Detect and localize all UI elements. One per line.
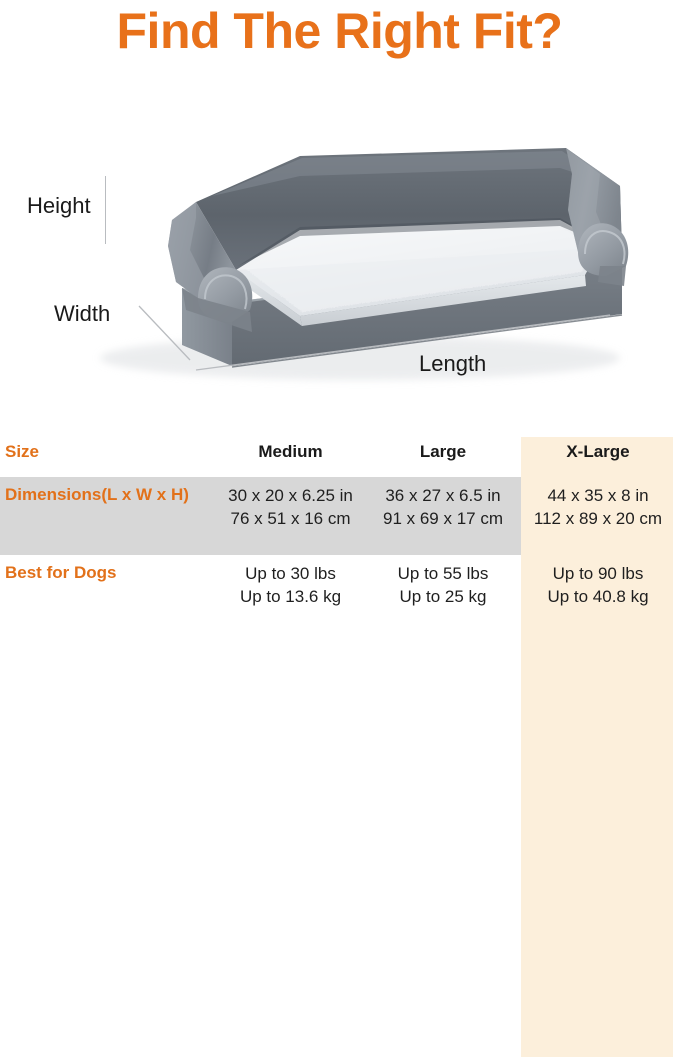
weight-lbs: Up to 30 lbs [198, 562, 383, 585]
xlarge-column-highlight [521, 437, 673, 1057]
cell-dimensions-medium: 30 x 20 x 6.25 in 76 x 51 x 16 cm [198, 484, 383, 530]
dimensions-cm: 91 x 69 x 17 cm [362, 507, 524, 530]
row-label-dimensions: Dimensions(L x W x H) [5, 484, 189, 506]
length-label: Length [419, 351, 486, 377]
weight-lbs: Up to 90 lbs [518, 562, 678, 585]
cell-weight-medium: Up to 30 lbs Up to 13.6 kg [198, 562, 383, 608]
width-label: Width [54, 301, 110, 327]
cell-weight-large: Up to 55 lbs Up to 25 kg [362, 562, 524, 608]
dimensions-cm: 76 x 51 x 16 cm [198, 507, 383, 530]
column-header-large: Large [362, 441, 524, 463]
row-label-size: Size [5, 441, 39, 463]
column-header-medium: Medium [198, 441, 383, 463]
row-label-best-for-dogs: Best for Dogs [5, 562, 116, 584]
cell-dimensions-large: 36 x 27 x 6.5 in 91 x 69 x 17 cm [362, 484, 524, 530]
column-header-xlarge: X-Large [518, 441, 678, 463]
product-illustration [0, 70, 679, 430]
page-title: Find The Right Fit? [0, 2, 679, 64]
size-chart-table: Size Dimensions(L x W x H) Best for Dogs… [0, 430, 679, 637]
dimensions-inches: 30 x 20 x 6.25 in [198, 484, 383, 507]
dimensions-inches: 44 x 35 x 8 in [518, 484, 678, 507]
dimensions-inches: 36 x 27 x 6.5 in [362, 484, 524, 507]
weight-lbs: Up to 55 lbs [362, 562, 524, 585]
height-label: Height [27, 193, 91, 219]
cell-dimensions-xlarge: 44 x 35 x 8 in 112 x 89 x 20 cm [518, 484, 678, 530]
dimensions-cm: 112 x 89 x 20 cm [518, 507, 678, 530]
height-callout-line [105, 176, 106, 244]
weight-kg: Up to 40.8 kg [518, 585, 678, 608]
weight-kg: Up to 25 kg [362, 585, 524, 608]
cell-weight-xlarge: Up to 90 lbs Up to 40.8 kg [518, 562, 678, 608]
weight-kg: Up to 13.6 kg [198, 585, 383, 608]
dog-bed-svg [0, 70, 679, 430]
